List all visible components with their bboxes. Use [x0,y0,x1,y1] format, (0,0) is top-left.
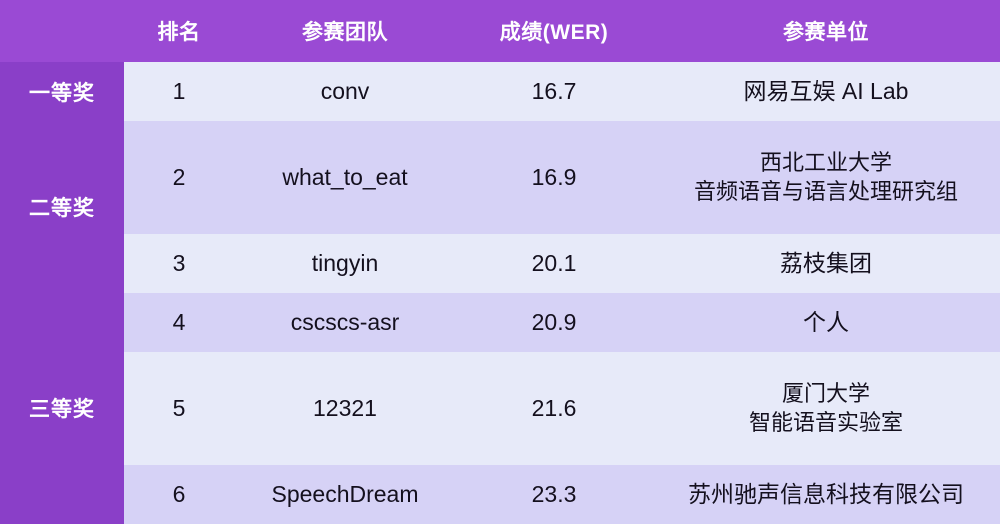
org-line: 网易互娱 AI Lab [658,76,994,106]
org-line: 荔枝集团 [658,248,994,278]
header-row: 排名 参赛团队 成绩(WER) 参赛单位 [0,0,1000,62]
header-cell-score: 成绩(WER) [456,0,652,62]
cell-rank: 5 [124,352,234,465]
award-label-first-prize: 一等奖 [0,62,124,121]
org-line: 西北工业大学 [658,148,994,177]
table-row: 一等奖 1 conv 16.7 网易互娱 AI Lab [0,62,1000,121]
cell-org: 网易互娱 AI Lab [652,62,1000,121]
table-header: 排名 参赛团队 成绩(WER) 参赛单位 [0,0,1000,62]
cell-team: what_to_eat [234,121,456,234]
cell-rank: 1 [124,62,234,121]
cell-score: 20.1 [456,234,652,293]
table-row: 6 SpeechDream 23.3 苏州驰声信息科技有限公司 [0,465,1000,524]
header-cell-org: 参赛单位 [652,0,1000,62]
org-line: 音频语音与语言处理研究组 [658,177,994,206]
table-row: 3 tingyin 20.1 荔枝集团 [0,234,1000,293]
cell-org: 厦门大学 智能语音实验室 [652,352,1000,465]
cell-score: 23.3 [456,465,652,524]
cell-team: cscscs-asr [234,293,456,352]
cell-rank: 6 [124,465,234,524]
cell-org: 荔枝集团 [652,234,1000,293]
cell-org: 苏州驰声信息科技有限公司 [652,465,1000,524]
header-cell-team: 参赛团队 [234,0,456,62]
cell-score: 16.9 [456,121,652,234]
cell-rank: 4 [124,293,234,352]
table-row: 二等奖 2 what_to_eat 16.9 西北工业大学 音频语音与语言处理研… [0,121,1000,234]
cell-team: conv [234,62,456,121]
cell-rank: 2 [124,121,234,234]
table-row: 三等奖 4 cscscs-asr 20.9 个人 [0,293,1000,352]
table-body: 一等奖 1 conv 16.7 网易互娱 AI Lab 二等奖 2 what_t… [0,62,1000,524]
header-cell-rank: 排名 [124,0,234,62]
award-label-second-prize: 二等奖 [0,121,124,293]
cell-team: 12321 [234,352,456,465]
org-line: 智能语音实验室 [658,408,994,437]
org-line: 个人 [658,307,994,337]
cell-score: 16.7 [456,62,652,121]
org-line: 苏州驰声信息科技有限公司 [658,479,994,509]
cell-team: SpeechDream [234,465,456,524]
award-label-third-prize: 三等奖 [0,293,124,524]
org-line: 厦门大学 [658,379,994,408]
ranking-table: 排名 参赛团队 成绩(WER) 参赛单位 一等奖 1 conv 16.7 网易互… [0,0,1000,524]
cell-org: 个人 [652,293,1000,352]
cell-score: 20.9 [456,293,652,352]
cell-org: 西北工业大学 音频语音与语言处理研究组 [652,121,1000,234]
cell-rank: 3 [124,234,234,293]
cell-team: tingyin [234,234,456,293]
cell-score: 21.6 [456,352,652,465]
header-cell-award [0,0,124,62]
table-row: 5 12321 21.6 厦门大学 智能语音实验室 [0,352,1000,465]
